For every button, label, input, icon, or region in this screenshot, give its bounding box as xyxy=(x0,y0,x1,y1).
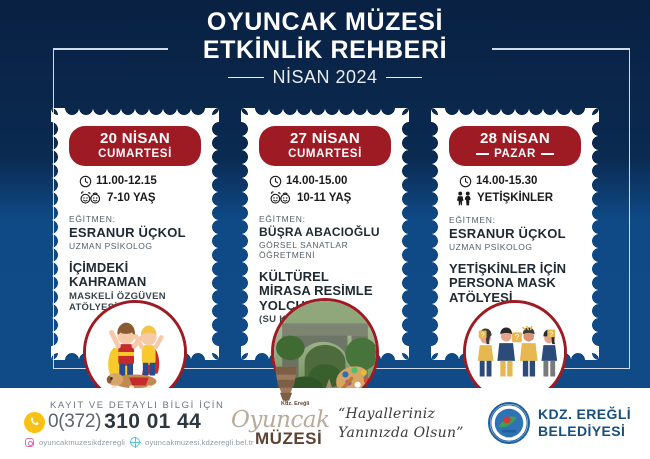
date-badge-date: 20 NİSAN xyxy=(79,131,191,147)
two-adults-icon xyxy=(455,191,473,206)
svg-text:1880: 1880 xyxy=(505,435,513,439)
date-badge-date: 27 NİSAN xyxy=(269,131,381,147)
poster-header: OYUNCAK MÜZESİ ETKİNLİK REHBERİ NİSAN 20… xyxy=(0,8,650,88)
date-badge-day: CUMARTESİ xyxy=(269,148,381,160)
educator-role: GÖRSEL SANATLAR ÖĞRETMENİ xyxy=(259,240,397,260)
event-card-28-nisan[interactable]: 28 NİSAN PAZAR 14.00-15.30 xyxy=(431,108,599,360)
date-badge-day-group: PAZAR xyxy=(459,148,571,160)
audience-row: 7-10 YAŞ xyxy=(79,191,207,205)
title-line-1: OYUNCAK MÜZESİ xyxy=(207,8,443,36)
clock-icon xyxy=(79,175,92,188)
educator-name: ESRANUR ÜÇKOL xyxy=(69,225,207,240)
phone-number: 310 01 44 xyxy=(104,410,201,434)
svg-text:?: ? xyxy=(515,333,520,342)
audience-row: YETİŞKİNLER xyxy=(455,191,587,206)
municipality-logo: 1880 KDZ. EREĞLİ BELEDİYESİ xyxy=(488,402,631,444)
time-text: 11.00-12.15 xyxy=(96,175,157,187)
event-card-27-nisan[interactable]: 27 NİSAN CUMARTESİ 14.00-15.00 xyxy=(241,108,409,360)
event-cards-row: 20 NİSAN CUMARTESİ 11.00-12.15 xyxy=(0,108,650,360)
time-row: 11.00-12.15 xyxy=(79,175,207,188)
educator-label: EĞİTMEN: xyxy=(69,214,207,224)
slogan-line-2: Yanınızda Olsun” xyxy=(338,424,464,443)
website-icon[interactable] xyxy=(130,437,140,447)
spinning-top-icon xyxy=(273,365,299,405)
educator-role: UZMAN PSİKOLOG xyxy=(69,241,207,251)
workshop-title-line-1: YETİŞKİNLER İÇİN xyxy=(449,262,587,277)
time-row: 14.00-15.00 xyxy=(269,175,397,188)
educator-role: UZMAN PSİKOLOG xyxy=(449,242,587,252)
municipality-line-2: BELEDİYESİ xyxy=(538,423,631,440)
museum-logo: Kdz. Ereğli Oyuncak MÜZESİ xyxy=(225,373,337,457)
date-badge: 28 NİSAN PAZAR xyxy=(449,126,581,166)
museum-logo-muzesi: MÜZESİ xyxy=(255,429,322,449)
social-links: oyuncakmuzesikdzeregli oyuncakmuzesi.kdz… xyxy=(25,437,254,447)
poster-footer: KAYIT VE DETAYLI BİLGİ İÇİN 0(372) 310 0… xyxy=(0,388,650,459)
kids-faces-icon xyxy=(269,191,293,205)
time-text: 14.00-15.00 xyxy=(286,175,347,187)
slogan: “Hayalleriniz Yanınızda Olsun” xyxy=(338,405,464,443)
workshop-title-line-2: KAHRAMAN xyxy=(69,275,207,290)
educator-label: EĞİTMEN: xyxy=(259,214,397,224)
audience-text: 10-11 YAŞ xyxy=(297,192,351,204)
phone-prefix: 0(372) xyxy=(48,411,101,433)
subtitle-right-rule xyxy=(386,77,422,79)
phone-icon xyxy=(24,412,45,433)
subtitle-group: NİSAN 2024 xyxy=(228,67,421,88)
slogan-line-1: “Hayalleriniz xyxy=(338,405,464,424)
kids-faces-icon xyxy=(79,191,103,205)
educator-label: EĞİTMEN: xyxy=(449,215,587,225)
instagram-icon[interactable] xyxy=(25,438,34,447)
educator-name: BÜŞRA ABACIOĞLU xyxy=(259,225,397,239)
audience-row: 10-11 YAŞ xyxy=(269,191,397,205)
day-right-rule xyxy=(541,153,554,155)
date-badge: 27 NİSAN CUMARTESİ xyxy=(259,126,391,166)
municipality-line-1: KDZ. EREĞLİ xyxy=(538,406,631,423)
date-badge: 20 NİSAN CUMARTESİ xyxy=(69,126,201,166)
event-card-20-nisan[interactable]: 20 NİSAN CUMARTESİ 11.00-12.15 xyxy=(51,108,219,360)
subtitle-month: NİSAN 2024 xyxy=(272,67,377,88)
time-row: 14.00-15.30 xyxy=(459,175,587,188)
subtitle-left-rule xyxy=(228,77,264,79)
workshop-title-line-2: PERSONA MASK xyxy=(449,276,587,291)
svg-text:?: ? xyxy=(481,332,485,339)
day-left-rule xyxy=(476,153,489,155)
municipality-name: KDZ. EREĞLİ BELEDİYESİ xyxy=(538,406,631,439)
phone-line[interactable]: 0(372) 310 01 44 xyxy=(24,410,254,434)
svg-text:?: ? xyxy=(549,331,553,338)
superhero-kids-with-dog-illustration xyxy=(86,303,184,401)
municipality-seal-icon: 1880 xyxy=(488,402,530,444)
workshop-title-line-1: KÜLTÜREL xyxy=(259,270,397,285)
audience-text: 7-10 YAŞ xyxy=(107,192,156,204)
date-badge-date: 28 NİSAN xyxy=(459,131,571,147)
instagram-handle[interactable]: oyuncakmuzesikdzeregli xyxy=(39,438,125,447)
date-badge-day: PAZAR xyxy=(494,148,536,160)
educator-name: ESRANUR ÜÇKOL xyxy=(449,226,587,241)
time-text: 14.00-15.30 xyxy=(476,175,537,187)
workshop-title-line-2: MİRASA RESİMLE xyxy=(259,284,397,299)
workshop-title: YETİŞKİNLER İÇİN PERSONA MASK ATÖLYESİ xyxy=(449,262,587,306)
clock-icon xyxy=(459,175,472,188)
workshop-title: İÇİMDEKİ KAHRAMAN xyxy=(69,261,207,290)
title-line-2: ETKİNLİK REHBERİ xyxy=(0,36,650,64)
workshop-title-line-1: İÇİMDEKİ xyxy=(69,261,207,276)
clock-icon xyxy=(269,175,282,188)
audience-text: YETİŞKİNLER xyxy=(477,192,553,204)
page-title: OYUNCAK MÜZESİ ETKİNLİK REHBERİ xyxy=(0,8,650,64)
contact-block: KAYIT VE DETAYLI BİLGİ İÇİN 0(372) 310 0… xyxy=(24,400,254,447)
date-badge-day: CUMARTESİ xyxy=(79,148,191,160)
people-with-question-mark-masks-illustration: ? ? xyxy=(466,303,564,401)
poster-root: OYUNCAK MÜZESİ ETKİNLİK REHBERİ NİSAN 20… xyxy=(0,0,650,459)
